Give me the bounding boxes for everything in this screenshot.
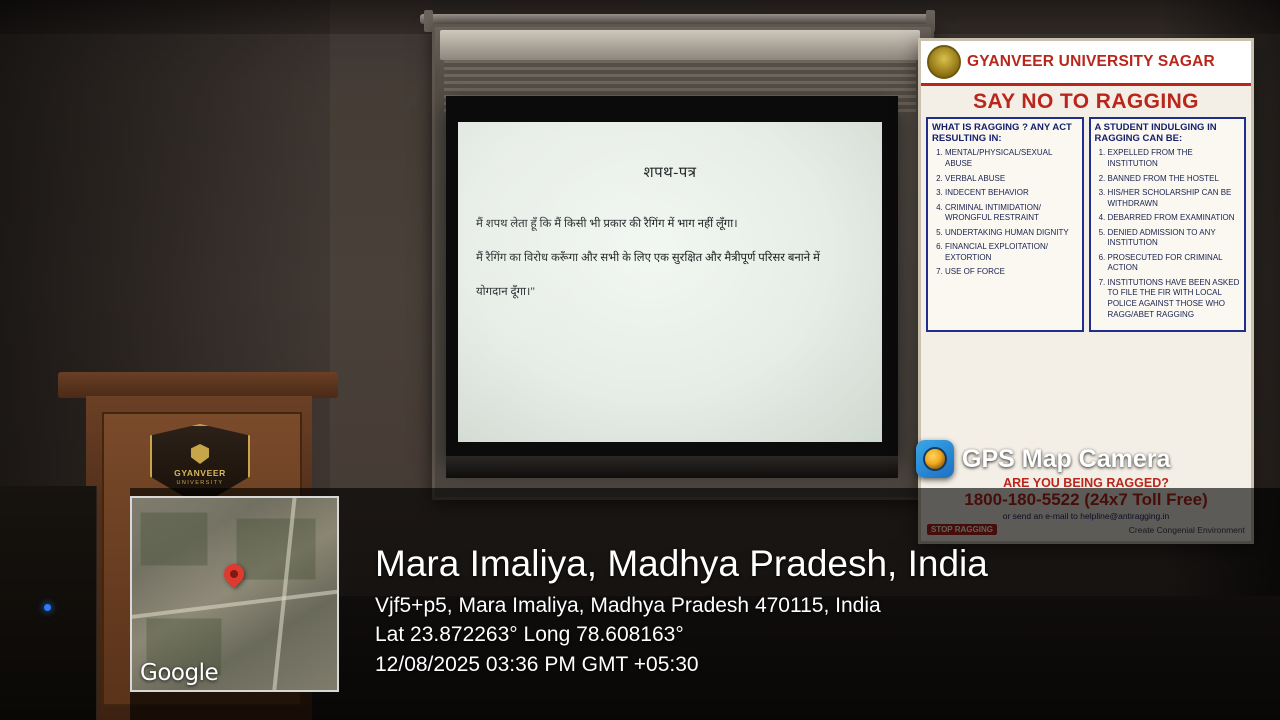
- podium-top: [58, 372, 338, 398]
- loudspeaker-cabinet: [0, 486, 97, 720]
- helpline-question: ARE YOU BEING RAGGED?: [927, 476, 1245, 490]
- university-emblem-icon: [927, 45, 961, 79]
- helpline-email: or send an e-mail to helpline@antiraggin…: [927, 511, 1245, 521]
- slide-line-2: मैं रैगिंग का विरोध करूँगा और सभी के लिए…: [476, 250, 864, 268]
- poster-right-list: EXPELLED FROM THE INSTITUTION BANNED FRO…: [1095, 148, 1241, 320]
- poster-helpline-block: ARE YOU BEING RAGGED? 1800-180-5522 (24x…: [921, 472, 1251, 541]
- slide-line-3: योगदान दूँगा।": [476, 284, 864, 302]
- slide-title: शपथ-पत्र: [476, 162, 864, 182]
- slide-line-1: मैं शपथ लेता हूँ कि मैं किसी भी प्रकार क…: [476, 216, 864, 234]
- helpline-number: 1800-180-5522 (24x7 Toll Free): [927, 490, 1245, 510]
- presentation-slide: शपथ-पत्र मैं शपथ लेता हूँ कि मैं किसी भी…: [458, 122, 882, 442]
- list-item: INDECENT BEHAVIOR: [945, 188, 1078, 199]
- photo-canvas: शपथ-पत्र मैं शपथ लेता हूँ कि मैं किसी भी…: [0, 0, 1280, 720]
- poster-footer: STOP RAGGING Create Congenial Environmen…: [927, 524, 1245, 535]
- list-item: UNDERTAKING HUMAN DIGNITY: [945, 228, 1078, 239]
- projection-screen: शपथ-पत्र मैं शपथ लेता हूँ कि मैं किसी भी…: [458, 122, 882, 442]
- poster-left-heading: WHAT IS RAGGING ? ANY ACT RESULTING IN:: [932, 122, 1078, 144]
- poster-slogan: SAY NO TO RAGGING: [921, 86, 1251, 117]
- gps-map-camera-badge: GPS Map Camera: [916, 440, 1170, 478]
- projection-screen-base: [446, 456, 898, 478]
- podium-crest-subtitle: UNIVERSITY: [176, 480, 223, 486]
- list-item: HIS/HER SCHOLARSHIP CAN BE WITHDRAWN: [1108, 188, 1241, 209]
- list-item: USE OF FORCE: [945, 267, 1078, 278]
- list-item: PROSECUTED FOR CRIMINAL ACTION: [1108, 253, 1241, 274]
- poster-footer-note: Create Congenial Environment: [1129, 525, 1245, 535]
- curtain-rail: [420, 14, 935, 24]
- poster-right-heading: A STUDENT INDULGING IN RAGGING CAN BE:: [1095, 122, 1241, 144]
- poster-column-what-is-ragging: WHAT IS RAGGING ? ANY ACT RESULTING IN: …: [926, 117, 1084, 332]
- camera-lens-icon: [923, 447, 947, 471]
- poster-university-name: GYANVEER UNIVERSITY SAGAR: [967, 53, 1215, 71]
- list-item: INSTITUTIONS HAVE BEEN ASKED TO FILE THE…: [1108, 278, 1241, 320]
- poster-left-list: MENTAL/PHYSICAL/SEXUAL ABUSE VERBAL ABUS…: [932, 148, 1078, 277]
- camera-icon: [916, 440, 954, 478]
- list-item: DEBARRED FROM EXAMINATION: [1108, 213, 1241, 224]
- podium-crest-name: GYANVEER: [174, 468, 226, 478]
- list-item: MENTAL/PHYSICAL/SEXUAL ABUSE: [945, 148, 1078, 169]
- list-item: DENIED ADMISSION TO ANY INSTITUTION: [1108, 228, 1241, 249]
- shield-icon: [191, 444, 209, 464]
- power-led-indicator: [44, 604, 51, 611]
- poster-columns: WHAT IS RAGGING ? ANY ACT RESULTING IN: …: [921, 117, 1251, 332]
- poster-header: GYANVEER UNIVERSITY SAGAR: [921, 41, 1251, 86]
- list-item: CRIMINAL INTIMIDATION/ WRONGFUL RESTRAIN…: [945, 203, 1078, 224]
- gps-app-name: GPS Map Camera: [962, 445, 1170, 474]
- list-item: VERBAL ABUSE: [945, 174, 1078, 185]
- list-item: EXPELLED FROM THE INSTITUTION: [1108, 148, 1241, 169]
- blind-headrail: [440, 30, 920, 60]
- poster-column-punishments: A STUDENT INDULGING IN RAGGING CAN BE: E…: [1089, 117, 1247, 332]
- stop-ragging-badge: STOP RAGGING: [927, 524, 997, 535]
- list-item: FINANCIAL EXPLOITATION/ EXTORTION: [945, 242, 1078, 263]
- list-item: BANNED FROM THE HOSTEL: [1108, 174, 1241, 185]
